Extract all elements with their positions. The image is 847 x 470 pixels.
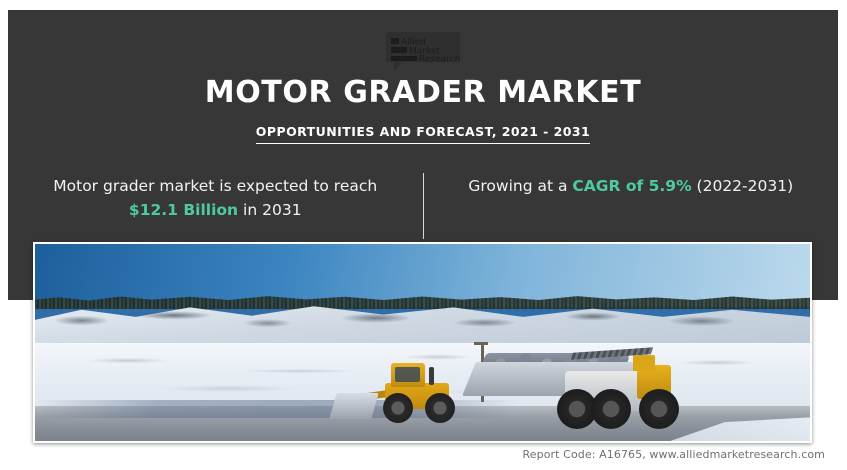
allied-market-research-logo-icon: Allied Market Research (380, 30, 466, 74)
stat-market-size-value: $12.1 Billion (129, 201, 238, 219)
report-code-footer: Report Code: A16765, www.alliedmarketres… (523, 448, 826, 461)
hero-photo (35, 244, 810, 441)
photo-haul-truck (461, 343, 711, 429)
page-title: MOTOR GRADER MARKET (8, 75, 838, 110)
stat-market-size-trail: in 2031 (243, 201, 302, 219)
stat-cagr-value: CAGR of 5.9% (572, 177, 691, 195)
hero-photo-frame (33, 242, 812, 443)
stat-cagr-trail: (2022-2031) (697, 177, 794, 195)
stat-cagr: Growing at a CAGR of 5.9% (2022-2031) (424, 165, 839, 198)
stat-market-size-lead: Motor grader market is expected to reach (53, 177, 377, 195)
loader-plow-blade (330, 393, 379, 419)
truck-wheel-rear-outer (591, 389, 631, 429)
loader-wheel-rear (383, 393, 413, 423)
stat-cagr-lead: Growing at a (468, 177, 567, 195)
logo-container[interactable]: Allied Market Research (8, 30, 838, 74)
stat-market-size: Motor grader market is expected to reach… (8, 165, 423, 222)
loader-cab-window (395, 367, 420, 382)
infographic-root: Allied Market Research MOTOR GRADER MARK… (0, 0, 847, 470)
stats-row: Motor grader market is expected to reach… (8, 165, 838, 245)
truck-wheel-front (639, 389, 679, 429)
photo-rock-face (35, 305, 810, 331)
truck-cab (633, 355, 655, 371)
svg-text:Research: Research (419, 55, 460, 65)
loader-wheel-front (425, 393, 455, 423)
loader-exhaust-stack (429, 367, 434, 385)
page-subtitle: OPPORTUNITIES AND FORECAST, 2021 - 2031 (256, 124, 590, 144)
page-subtitle-container: OPPORTUNITIES AND FORECAST, 2021 - 2031 (8, 121, 838, 144)
